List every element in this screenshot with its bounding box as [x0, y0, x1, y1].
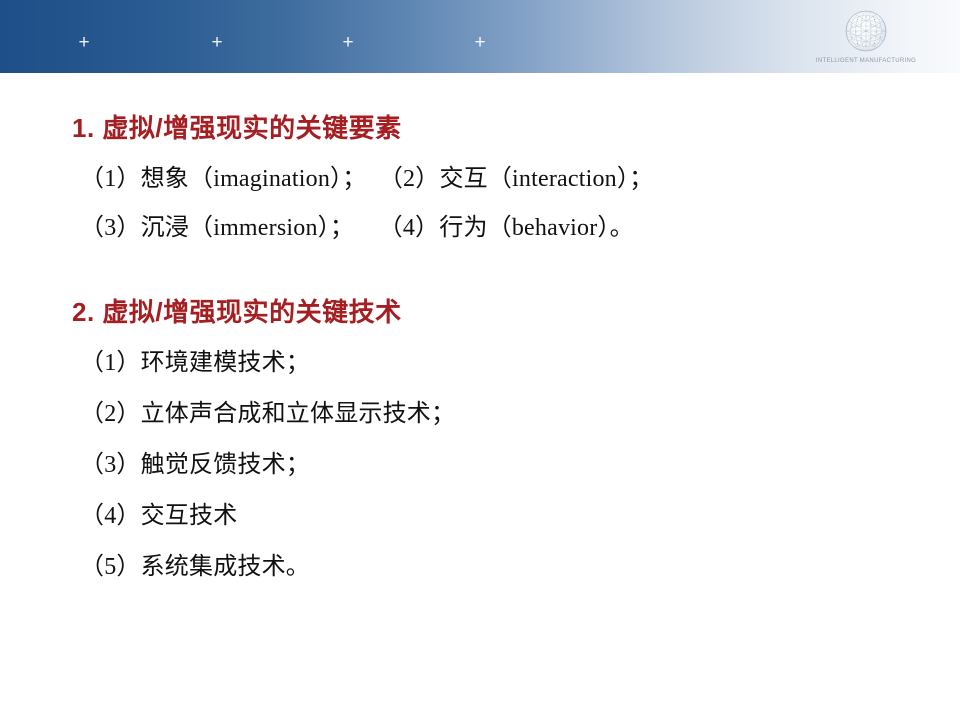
plus-decor-icon-2: + — [208, 34, 226, 52]
section-1-line-2: （3）沉浸（immersion）； （4）行为（behavior）。 — [80, 204, 960, 253]
plus-decor-icon-1: + — [75, 34, 93, 52]
section-1-line-1: （1）想象（imagination）； （2）交互（interaction）； — [80, 155, 960, 204]
section-2-line-3: （3）触觉反馈技术； — [80, 440, 960, 491]
plus-decor-icon-3: + — [339, 34, 357, 52]
section-1-heading: 1. 虚拟/增强现实的关键要素 — [0, 111, 960, 145]
slide-header-band: + + + + — [0, 0, 960, 73]
brand-logo: INTELLIGENT MANUFACTURING — [810, 4, 922, 72]
content-section-1: 1. 虚拟/增强现实的关键要素 （1）想象（imagination）； （2）交… — [0, 111, 960, 253]
slide-content-area: 1. 虚拟/增强现实的关键要素 （1）想象（imagination）； （2）交… — [0, 73, 960, 720]
content-section-2: 2. 虚拟/增强现实的关键技术 （1）环境建模技术； （2）立体声合成和立体显示… — [0, 295, 960, 593]
section-2-line-2: （2）立体声合成和立体显示技术； — [80, 389, 960, 440]
section-2-lines: （1）环境建模技术； （2）立体声合成和立体显示技术； （3）触觉反馈技术； （… — [0, 338, 960, 593]
section-2-heading: 2. 虚拟/增强现实的关键技术 — [0, 295, 960, 329]
logo-caption-text: INTELLIGENT MANUFACTURING — [814, 57, 917, 64]
section-2-line-1: （1）环境建模技术； — [80, 338, 960, 389]
plus-decor-icon-4: + — [471, 34, 489, 52]
section-2-line-4: （4）交互技术 — [80, 491, 960, 542]
section-2-line-5: （5）系统集成技术。 — [80, 542, 960, 593]
globe-mesh-logo-icon — [841, 6, 891, 56]
section-1-lines: （1）想象（imagination）； （2）交互（interaction）； … — [0, 155, 960, 253]
